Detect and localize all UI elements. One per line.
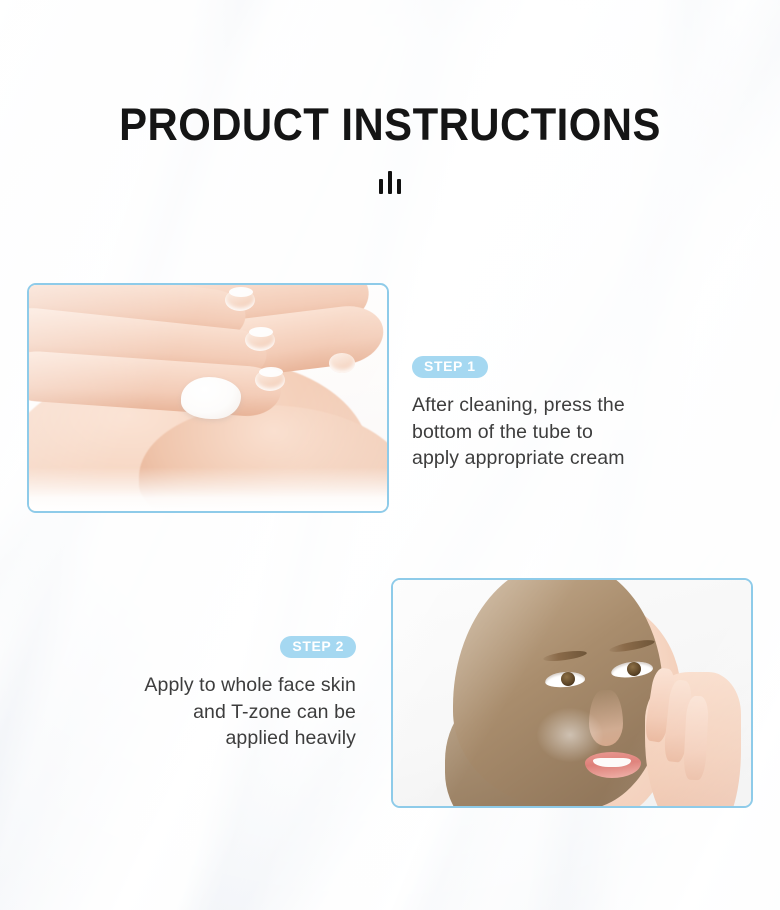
step-1-image-card <box>27 283 389 513</box>
step-2-image-card <box>391 578 753 808</box>
hands-with-cream-photo <box>29 285 387 511</box>
photo-bottom-fade <box>29 467 387 511</box>
step-2-text-block: STEP 2 Apply to whole face skin and T-zo… <box>76 636 356 752</box>
step-2-badge: STEP 2 <box>280 636 356 658</box>
woman-touching-face-photo <box>393 580 751 806</box>
bar-left <box>379 179 383 194</box>
bar-middle <box>388 171 392 194</box>
page-header: PRODUCT INSTRUCTIONS <box>0 100 780 194</box>
bar-right <box>397 179 401 194</box>
page-title: PRODUCT INSTRUCTIONS <box>27 100 752 150</box>
step-1-text-block: STEP 1 After cleaning, press the bottom … <box>412 356 692 472</box>
three-bars-icon <box>375 168 405 194</box>
photo-highlight <box>393 580 751 806</box>
step-1-description: After cleaning, press the bottom of the … <box>412 392 692 472</box>
step-2-description: Apply to whole face skin and T-zone can … <box>76 672 356 752</box>
step-1-badge: STEP 1 <box>412 356 488 378</box>
product-instructions-page: PRODUCT INSTRUCTIONS <box>0 0 780 910</box>
